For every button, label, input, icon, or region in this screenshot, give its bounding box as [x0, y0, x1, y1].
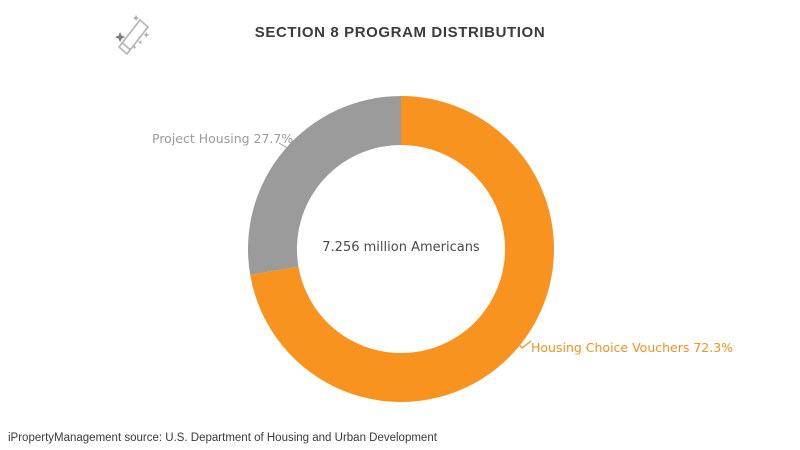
callout-label-project-housing: Project Housing 27.7%	[152, 131, 293, 146]
callout-label-housing-choice-vouchers: Housing Choice Vouchers 72.3%	[531, 340, 733, 355]
footer-source-text: iPropertyManagement source: U.S. Departm…	[8, 432, 437, 444]
chart-canvas: SECTION 8 PROGRAM DISTRIBUTION 7.256 mil…	[0, 0, 800, 450]
donut-center-total-label: 7.256 million Americans	[248, 240, 554, 255]
page-title: SECTION 8 PROGRAM DISTRIBUTION	[0, 24, 800, 41]
